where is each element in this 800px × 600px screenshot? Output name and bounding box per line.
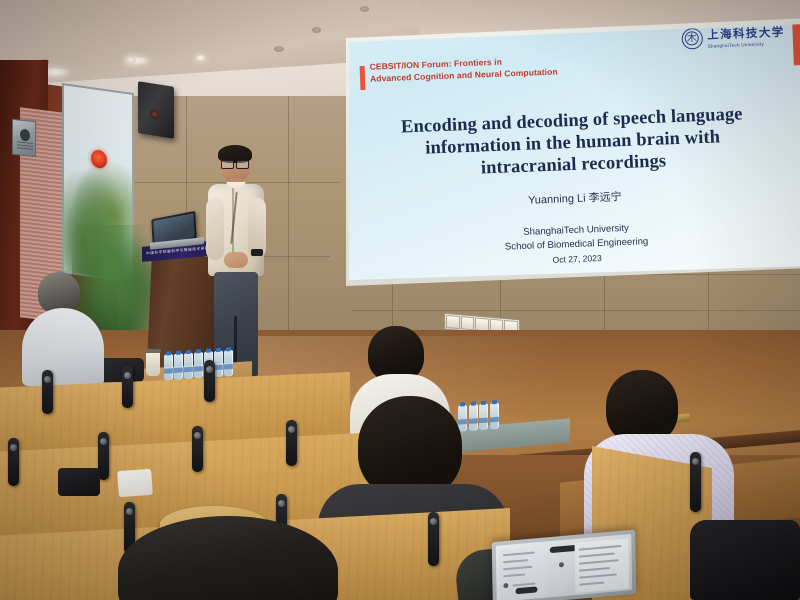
- paper-under-seat: [117, 469, 153, 497]
- wristwatch-icon: [251, 249, 263, 256]
- seat-bracket: [192, 426, 203, 472]
- seat-bracket: [8, 438, 19, 486]
- wall-sign-plaque: [12, 119, 36, 158]
- slide-title: Encoding and decoding of speech language…: [376, 102, 770, 183]
- audience-member: [24, 272, 98, 382]
- seat-bracket: [286, 420, 297, 466]
- glasses-icon: [221, 160, 249, 167]
- paper-cup: [146, 352, 160, 376]
- red-lantern-icon: [91, 149, 107, 169]
- audience-head: [358, 396, 462, 498]
- audience-head: [118, 516, 338, 600]
- laptop-screen[interactable]: [496, 534, 632, 600]
- presenter-hands: [224, 252, 248, 268]
- slide-accent-bar-left: [360, 66, 366, 90]
- water-bottle: [184, 353, 193, 380]
- ceiling-downlight: [312, 27, 321, 33]
- foreground-audience-member: [118, 516, 338, 600]
- laptop-ui-right-pane: [574, 538, 629, 593]
- foreground-laptop: [492, 530, 637, 600]
- water-bottle: [194, 352, 203, 379]
- slide-accent-bar-right: [792, 22, 800, 65]
- outlet-socket: [461, 316, 475, 330]
- water-bottle: [164, 354, 173, 381]
- ceiling-downlight: [360, 6, 369, 12]
- bag-under-seat: [58, 468, 100, 496]
- ceiling-downlight: [274, 46, 284, 52]
- backpack: [690, 520, 800, 600]
- seat-bracket: [42, 370, 53, 414]
- laptop-ui-dot: [558, 562, 563, 567]
- water-bottle: [490, 403, 499, 430]
- ceiling-downlight: [196, 55, 205, 61]
- wall-speaker: [138, 81, 174, 139]
- seat-bracket: [428, 512, 439, 566]
- sign-text-lines: [17, 141, 33, 151]
- audience-head: [606, 370, 678, 444]
- water-bottle: [224, 350, 233, 377]
- seat-bracket: [122, 366, 133, 408]
- slide-author: Yuanning Li 李远宁: [379, 182, 771, 213]
- presentation-slide: 上海科技大学 ShanghaiTech University CEBSIT/IO…: [337, 22, 800, 280]
- seat-bracket: [204, 360, 215, 402]
- outlet-socket: [446, 315, 460, 329]
- shanghaitech-emblem-icon: [681, 27, 703, 49]
- lecture-hall-photo: 上海科技大学 ShanghaiTech University CEBSIT/IO…: [0, 0, 800, 600]
- seat-bracket: [690, 452, 701, 512]
- water-bottle: [214, 351, 223, 378]
- presenter-left-arm: [206, 198, 224, 260]
- ceiling-downlight: [126, 57, 136, 63]
- water-bottle: [174, 353, 183, 380]
- audience-shoulders: [22, 308, 104, 386]
- slide-kicker: CEBSIT/ION Forum: Frontiers in Advanced …: [369, 51, 640, 84]
